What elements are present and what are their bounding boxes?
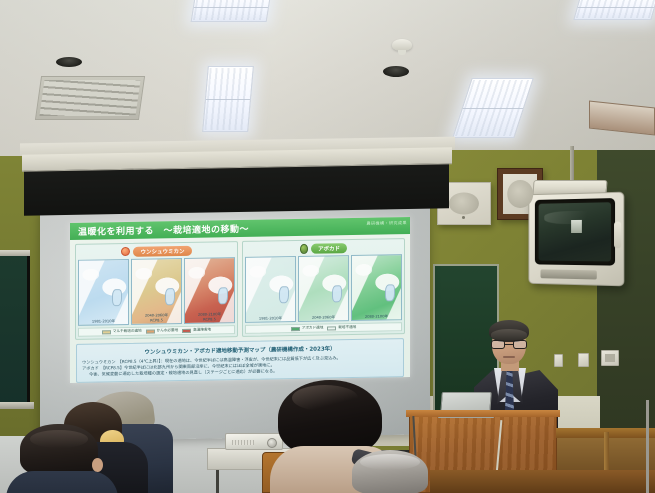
smoke-detector-icon [392,39,412,51]
ceiling-light-panel-1 [191,0,272,22]
presenter-hair [489,320,529,342]
audience-member-front-left [6,424,118,493]
chalkboard-left [0,256,30,408]
projector-table-leg [216,470,219,493]
audience-member-grey-hair [352,450,428,493]
projected-slide: 温暖化を利用する ～栽培適地の移動～ 農研機構・研究成果 ウンシュウミカン 19… [70,217,410,383]
lectern-top-surface [406,410,560,417]
legend-label: 栽培不適地 [338,325,356,330]
map-legend: マルチ栽培の適地 かん水必要地 高温障害地 [78,325,235,337]
map-period: 2040-2060年 [312,315,335,319]
map-scenario: RCP8.5 [203,317,216,321]
legend-swatch [182,328,191,332]
recessed-ceiling-speaker-2 [383,66,409,77]
wall-plate-3[interactable] [601,350,619,366]
map-row: 1981-2010年 2040-2060年 RCP8.5 2080-2100年 [78,257,235,326]
map-thumbnail: 2040-2060年 RCP8.5 [131,258,182,325]
panel-crop-label: アボカド [311,243,347,254]
tv-side-panel [614,222,621,249]
slide-panel-avocado: アボカド 1981-2010年 2040-2060年 2080-2100年 [242,238,405,337]
slide-title-text: 温暖化を利用する ～栽培適地の移動～ [78,222,249,238]
tv-speaker-grille [541,269,597,279]
map-legend: アボカド適地 栽培不適地 [245,322,402,334]
panel-header: ウンシュウミカン [78,244,235,258]
map-scenario: RCP8.5 [150,318,163,322]
wall-mounted-crt-television [528,192,624,287]
tv-screen-reflection [571,220,582,233]
map-thumbnail: 2040-2060年 [298,255,349,322]
wall-plate-2[interactable] [578,353,589,367]
legend-swatch [102,330,111,334]
tv-mount-pole [570,146,574,182]
slide-note-box: ウンシュウミカン・アボカド適地移動予測マップ（農研機構作成・2023年） ウンシ… [76,338,404,383]
panel-header: アボカド [245,241,402,255]
map-thumbnail: 1981-2010年 [78,259,129,326]
ceiling-light-panel-3 [202,66,254,132]
speaker-cone-icon [449,192,479,215]
audience-hair [278,380,382,456]
legend-swatch [327,326,336,330]
hanging-wire [646,400,649,493]
audience-hair [352,450,428,493]
slide-panels: ウンシュウミカン 1981-2010年 2040-2060年 RCP8.5 [70,234,410,340]
map-thumbnail: 2080-2100年 [351,254,402,321]
presenter-mouth [503,356,515,358]
audience-torso [6,471,118,493]
glasses-icon [491,340,527,349]
map-thumbnail: 2080-2100年 RCP8.5 [184,257,235,324]
lecture-hall-photo: 温暖化を利用する ～栽培適地の移動～ 農研機構・研究成果 ウンシュウミカン 19… [0,0,655,493]
projector-vent-icon [232,440,254,445]
legend-swatch [291,326,300,330]
desk-front-row [430,470,655,493]
slide-title-corner-note: 農研機構・研究成果 [367,220,408,227]
ceiling [0,0,655,172]
audience-ear [92,458,103,472]
speaker-indicator-icon [462,216,465,219]
map-period: 1981-2010年 [92,319,115,323]
map-thumbnail: 1981-2010年 [245,256,296,323]
map-period: 2080-2100年 [365,314,388,318]
legend-swatch [146,329,155,333]
map-row: 1981-2010年 2040-2060年 2080-2100年 [245,254,402,323]
speaker-cone-icon [507,180,533,208]
map-period: 1981-2010年 [259,316,282,320]
slide-panel-mandarin: ウンシュウミカン 1981-2010年 2040-2060年 RCP8.5 [75,241,238,340]
legend-label: アボカド適地 [302,326,324,331]
audience-hair [20,424,98,476]
ceiling-light-panel-2 [573,0,655,20]
legend-label: 高温障害地 [193,328,211,333]
legend-label: かん水必要地 [157,328,179,333]
ceiling-air-vent [35,76,145,120]
mandarin-orange-icon [121,247,130,256]
recessed-ceiling-speaker-1 [56,57,82,67]
panel-crop-label: ウンシュウミカン [133,245,191,256]
tv-screen [539,202,611,261]
avocado-icon [300,243,308,253]
chalkboard-left-chalk-tray [0,402,34,409]
legend-label: マルチ栽培の適地 [113,329,142,335]
tv-bezel [535,198,615,266]
